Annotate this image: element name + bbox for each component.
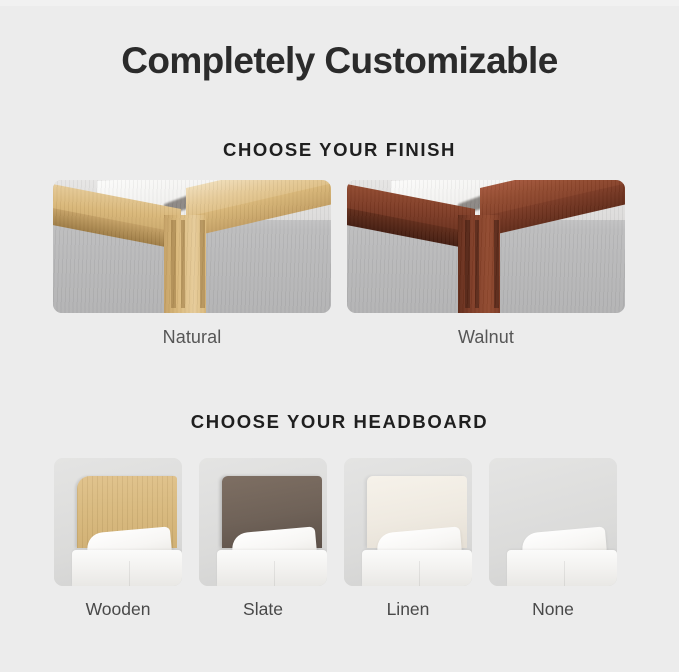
headboard-swatch-wooden[interactable]	[54, 458, 182, 586]
page-title: Completely Customizable	[0, 38, 679, 84]
headboard-label-linen: Linen	[344, 599, 472, 620]
headboard-label-wooden: Wooden	[54, 599, 182, 620]
headboard-option-wooden[interactable]: Wooden	[54, 458, 182, 620]
headboard-label-none: None	[489, 599, 617, 620]
bed-corner-image-walnut	[347, 180, 625, 313]
bed-corner-image-natural	[53, 180, 331, 313]
top-edge-strip	[0, 0, 679, 6]
headboard-swatch-linen[interactable]	[344, 458, 472, 586]
section-heading-finish: CHOOSE YOUR FINISH	[0, 139, 679, 161]
scene-mattress	[72, 550, 182, 586]
finish-label-walnut: Walnut	[347, 327, 625, 348]
finish-label-natural: Natural	[53, 327, 331, 348]
scene-mattress	[362, 550, 472, 586]
finish-swatch-walnut[interactable]	[347, 180, 625, 313]
finish-option-natural[interactable]: Natural	[53, 180, 331, 348]
finish-option-walnut[interactable]: Walnut	[347, 180, 625, 348]
joint-groove	[171, 220, 175, 308]
headboard-swatch-none[interactable]	[489, 458, 617, 586]
scene-mattress	[507, 550, 617, 586]
finish-options-row: Natural	[53, 180, 626, 348]
section-heading-headboard: CHOOSE YOUR HEADBOARD	[0, 411, 679, 433]
headboard-option-slate[interactable]: Slate	[199, 458, 327, 620]
product-customization-panel: Completely Customizable CHOOSE YOUR FINI…	[0, 0, 679, 672]
joint-groove	[200, 220, 204, 308]
scene-mattress	[217, 550, 327, 586]
joint-groove	[465, 220, 469, 308]
joint-groove	[494, 220, 498, 308]
headboard-label-slate: Slate	[199, 599, 327, 620]
joint-groove	[475, 220, 479, 308]
headboard-option-linen[interactable]: Linen	[344, 458, 472, 620]
finish-swatch-natural[interactable]	[53, 180, 331, 313]
headboard-swatch-slate[interactable]	[199, 458, 327, 586]
headboard-options-row: Wooden Slate Linen	[54, 458, 626, 620]
joint-groove	[181, 220, 185, 308]
headboard-option-none[interactable]: None	[489, 458, 617, 620]
